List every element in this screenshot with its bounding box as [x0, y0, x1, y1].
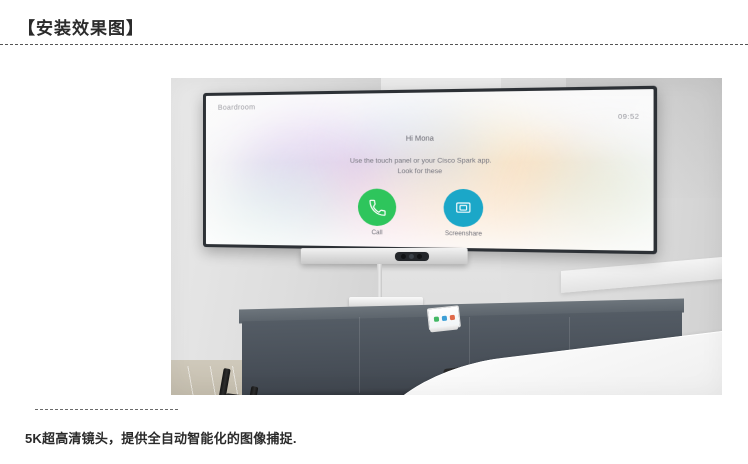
instruction-line-2: Look for these [206, 168, 654, 176]
chair [239, 386, 311, 395]
touch-panel-dot [433, 316, 438, 321]
room-name-label: Boardroom [218, 104, 255, 112]
credenza-door-seam [359, 317, 360, 393]
call-action[interactable]: Call [350, 189, 405, 237]
installation-photo: Boardroom 09:52 Hi Mona Use the touch pa… [171, 78, 722, 395]
display-bezel: Boardroom 09:52 Hi Mona Use the touch pa… [203, 86, 657, 255]
camera-lens [417, 254, 422, 259]
camera-lens [409, 254, 414, 259]
screen-action-row: Call Screenshare [206, 188, 654, 240]
caption-text: 5K超高清镜头，提供全自动智能化的图像捕捉. [25, 428, 297, 447]
call-action-label: Call [350, 230, 405, 237]
screen-content: Boardroom 09:52 Hi Mona Use the touch pa… [206, 89, 654, 251]
touch-panel-dot [449, 314, 454, 319]
phone-icon[interactable] [358, 189, 396, 227]
camera-lens-housing [395, 252, 429, 261]
camera-lens [401, 254, 406, 259]
screenshare-action-label: Screenshare [435, 231, 492, 238]
screenshare-action[interactable]: Screenshare [435, 189, 492, 238]
video-camera-bar [301, 248, 468, 264]
wall-mounted-display: Boardroom 09:52 Hi Mona Use the touch pa… [203, 86, 657, 255]
camera-mount-stem [377, 264, 382, 299]
header-divider [0, 44, 748, 45]
screen-share-icon[interactable] [444, 189, 484, 227]
touch-panel-dot [441, 315, 446, 320]
instruction-line-1: Use the touch panel or your Cisco Spark … [206, 157, 654, 165]
chair-back-post [210, 368, 230, 395]
clock-label: 09:52 [618, 113, 639, 121]
display-screen: Boardroom 09:52 Hi Mona Use the touch pa… [206, 89, 654, 251]
caption-divider [35, 409, 178, 410]
greeting-text: Hi Mona [206, 134, 654, 144]
page-title: 【安装效果图】 [18, 14, 144, 39]
cisco-touch-panel[interactable] [426, 304, 461, 333]
chair-back-post [239, 386, 259, 395]
